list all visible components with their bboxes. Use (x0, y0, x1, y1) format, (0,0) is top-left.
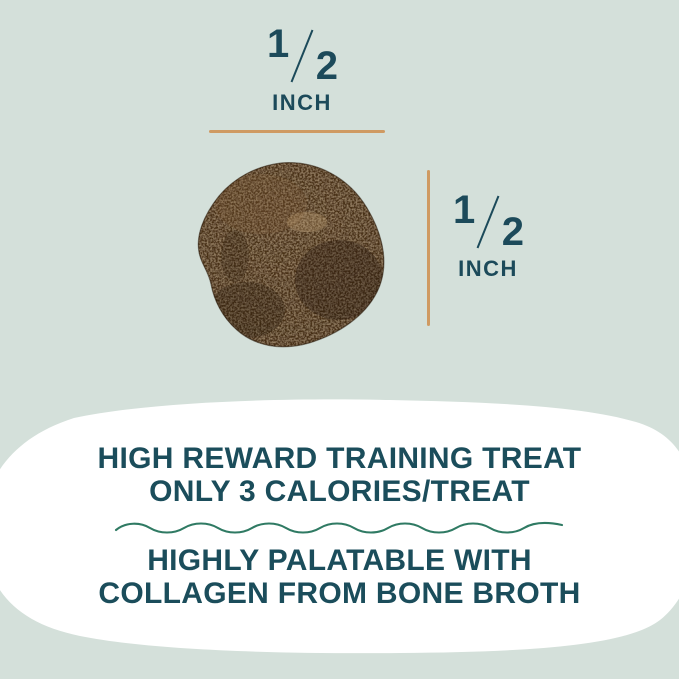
fraction-numerator: 1 (267, 24, 288, 64)
right-measurement-label: 1 2 INCH (442, 190, 534, 282)
horizontal-ruler-line (209, 130, 385, 133)
headline-line-2: ONLY 3 CALORIES/TREAT (149, 475, 530, 508)
wavy-divider-icon (114, 519, 566, 535)
top-measurement-label: 1 2 INCH (256, 24, 348, 116)
callout-text-group: HIGH REWARD TRAINING TREAT ONLY 3 CALORI… (0, 398, 679, 654)
product-infographic: 1 2 INCH 1 2 INCH (0, 0, 679, 679)
treat-illustration (189, 160, 397, 350)
subline-line-1: HIGHLY PALATABLE WITH (147, 544, 532, 577)
fraction-one-half-top: 1 2 (263, 24, 341, 86)
subline-line-2: COLLAGEN FROM BONE BROTH (98, 577, 580, 610)
headline-line-1: HIGH REWARD TRAINING TREAT (98, 442, 582, 475)
treat-body (189, 160, 397, 350)
treat-image (189, 160, 397, 350)
fraction-numerator: 1 (453, 190, 474, 230)
fraction-denominator: 2 (502, 212, 523, 252)
fraction-slash-icon (477, 196, 500, 249)
fraction-denominator: 2 (316, 46, 337, 86)
fraction-one-half-right: 1 2 (449, 190, 527, 252)
right-measurement-unit: INCH (442, 256, 534, 282)
vertical-ruler-line (427, 170, 430, 326)
fraction-slash-icon (291, 30, 314, 83)
top-measurement-unit: INCH (256, 90, 348, 116)
